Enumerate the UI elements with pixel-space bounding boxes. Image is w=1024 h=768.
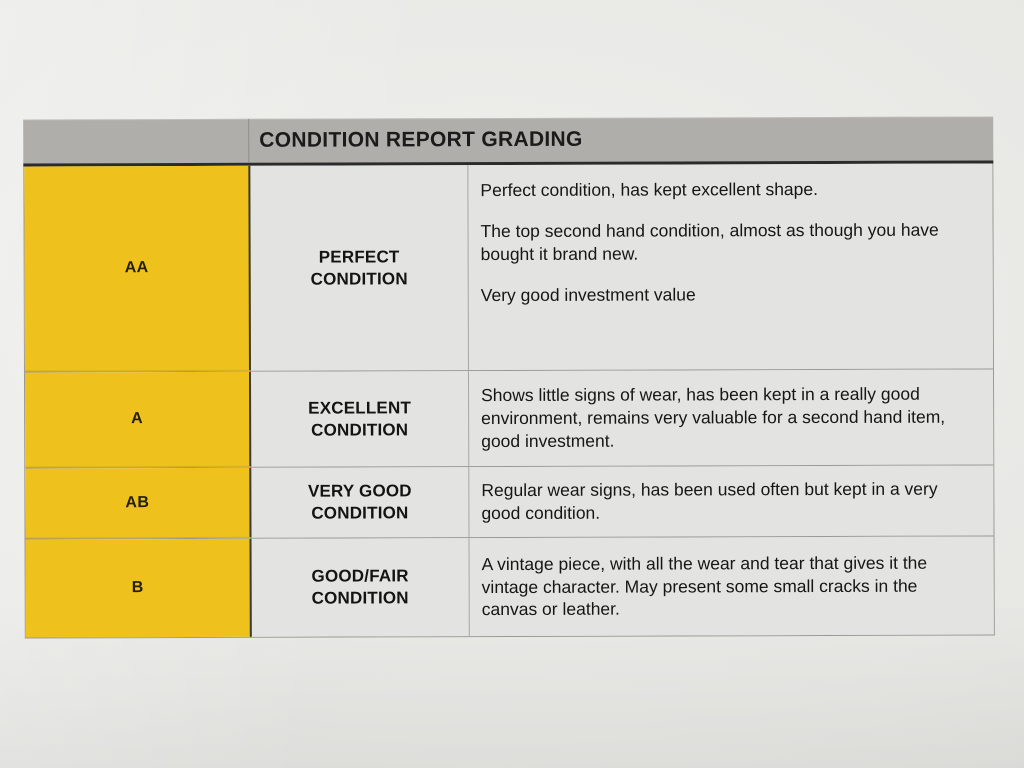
description-cell-ab: Regular wear signs, has been used often … (469, 465, 993, 537)
table-body: AA PERFECT CONDITION Perfect condition, … (23, 163, 994, 638)
table-row: A EXCELLENT CONDITION Shows little signs… (25, 369, 993, 468)
table-header-row: CONDITION REPORT GRADING (23, 116, 993, 166)
condition-cell-a: EXCELLENT CONDITION (251, 371, 469, 467)
condition-label: PERFECT CONDITION (310, 246, 407, 290)
description-cell-a: Shows little signs of wear, has been kep… (469, 369, 993, 466)
condition-label: VERY GOOD CONDITION (308, 481, 412, 525)
description-paragraph: Very good investment value (481, 283, 977, 307)
description-cell-aa: Perfect condition, has kept excellent sh… (468, 163, 993, 370)
condition-cell-b: GOOD/FAIR CONDITION (252, 538, 470, 637)
grade-code: AA (125, 259, 149, 277)
description-paragraph: A vintage piece, with all the wear and t… (482, 551, 978, 621)
condition-cell-ab: VERY GOOD CONDITION (251, 467, 469, 538)
description-paragraph: The top second hand condition, almost as… (481, 219, 977, 266)
description-cell-b: A vintage piece, with all the wear and t… (470, 536, 994, 636)
table-row: AA PERFECT CONDITION Perfect condition, … (24, 163, 993, 372)
page-title: CONDITION REPORT GRADING (259, 128, 582, 153)
table-header-title-cell: CONDITION REPORT GRADING (249, 116, 993, 162)
grade-code: B (132, 579, 144, 597)
condition-cell-aa: PERFECT CONDITION (250, 165, 469, 371)
table-header-grade-spacer (23, 119, 249, 164)
description-paragraph: Perfect condition, has kept excellent sh… (480, 178, 976, 202)
table-row: B GOOD/FAIR CONDITION A vintage piece, w… (26, 536, 994, 637)
condition-report-grading-table: CONDITION REPORT GRADING AA PERFECT COND… (23, 116, 995, 638)
grade-code: A (131, 410, 143, 428)
grade-cell-ab: AB (25, 468, 251, 539)
condition-label: GOOD/FAIR CONDITION (311, 566, 408, 610)
grade-cell-aa: AA (24, 166, 251, 372)
condition-label: EXCELLENT CONDITION (308, 397, 411, 441)
description-paragraph: Regular wear signs, has been used often … (481, 478, 977, 525)
grade-cell-b: B (26, 539, 252, 638)
grade-cell-a: A (25, 372, 251, 468)
description-paragraph: Shows little signs of wear, has been kep… (481, 383, 977, 453)
table-row: AB VERY GOOD CONDITION Regular wear sign… (25, 465, 993, 539)
grade-code: AB (125, 494, 149, 512)
